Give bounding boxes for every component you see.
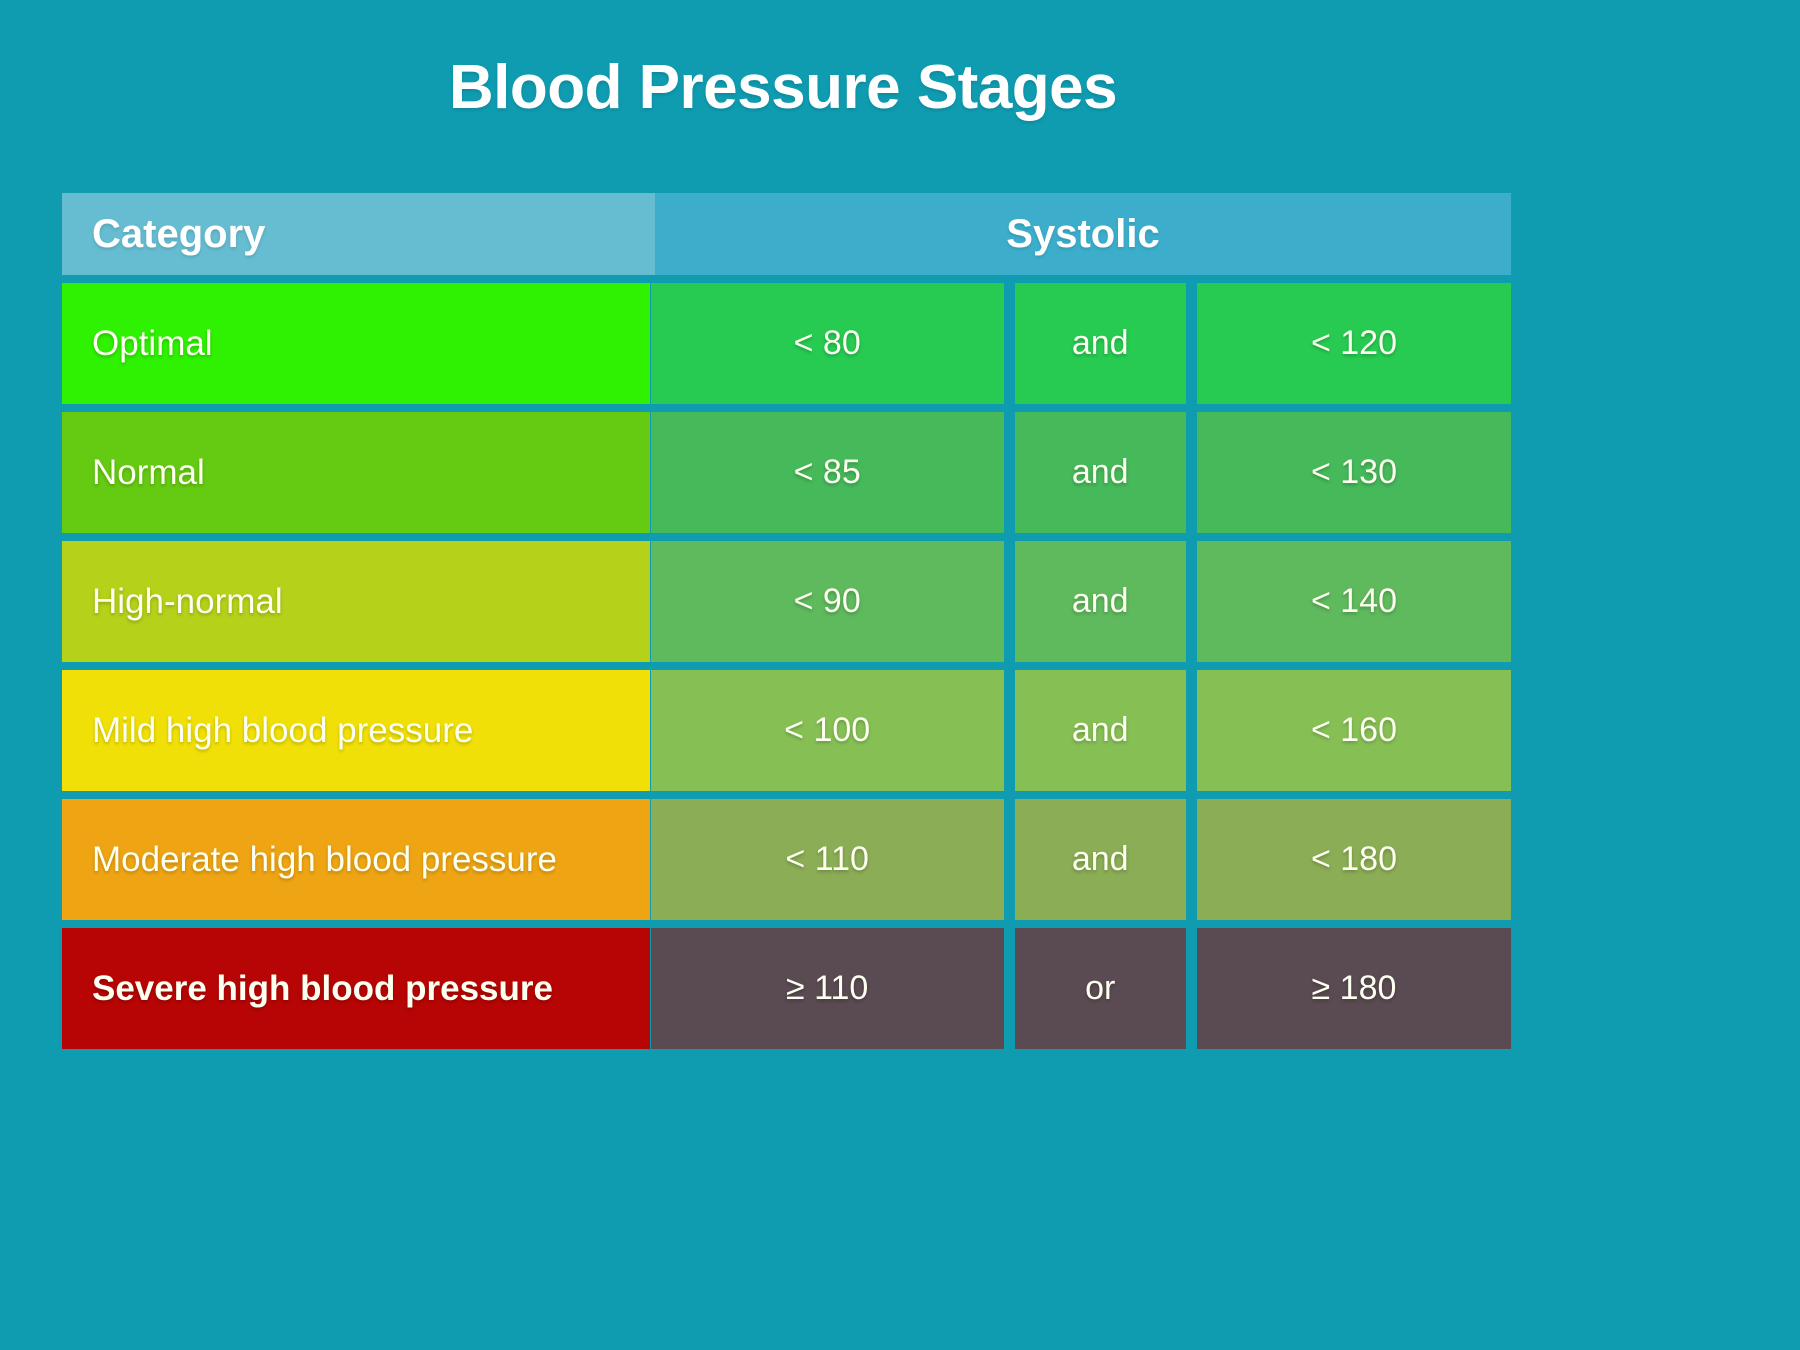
cell-diastolic: < 90 bbox=[651, 541, 1004, 662]
cell-diastolic: < 85 bbox=[651, 412, 1004, 533]
table-row: High-normal < 90 and < 140 bbox=[62, 541, 1511, 662]
cell-systolic: < 120 bbox=[1197, 283, 1511, 404]
column-header-systolic: Systolic bbox=[655, 193, 1511, 275]
cell-category: Severe high blood pressure bbox=[62, 928, 650, 1049]
cell-category: Optimal bbox=[62, 283, 650, 404]
cell-systolic: < 180 bbox=[1197, 799, 1511, 920]
cell-category: High-normal bbox=[62, 541, 650, 662]
cell-diastolic: < 80 bbox=[651, 283, 1004, 404]
cell-systolic: < 140 bbox=[1197, 541, 1511, 662]
column-header-category: Category bbox=[62, 193, 655, 275]
cell-operator: and bbox=[1015, 412, 1186, 533]
table-row: Moderate high blood pressure < 110 and <… bbox=[62, 799, 1511, 920]
table-header-row: Category Systolic bbox=[62, 193, 1511, 275]
table-row: Optimal < 80 and < 120 bbox=[62, 283, 1511, 404]
cell-systolic: < 160 bbox=[1197, 670, 1511, 791]
table-row: Mild high blood pressure < 100 and < 160 bbox=[62, 670, 1511, 791]
table-row: Severe high blood pressure ≥ 110 or ≥ 18… bbox=[62, 928, 1511, 1049]
cell-category: Normal bbox=[62, 412, 650, 533]
cell-diastolic: < 110 bbox=[651, 799, 1004, 920]
cell-systolic: ≥ 180 bbox=[1197, 928, 1511, 1049]
cell-operator: and bbox=[1015, 670, 1186, 791]
cell-category: Mild high blood pressure bbox=[62, 670, 650, 791]
blood-pressure-table: Category Systolic Optimal < 80 and < 120… bbox=[62, 193, 1511, 1049]
page-title: Blood Pressure Stages bbox=[0, 52, 1566, 123]
cell-diastolic: ≥ 110 bbox=[651, 928, 1004, 1049]
cell-operator: and bbox=[1015, 799, 1186, 920]
cell-operator: and bbox=[1015, 283, 1186, 404]
cell-operator: or bbox=[1015, 928, 1186, 1049]
table-row: Normal < 85 and < 130 bbox=[62, 412, 1511, 533]
cell-category: Moderate high blood pressure bbox=[62, 799, 650, 920]
cell-diastolic: < 100 bbox=[651, 670, 1004, 791]
cell-operator: and bbox=[1015, 541, 1186, 662]
cell-systolic: < 130 bbox=[1197, 412, 1511, 533]
